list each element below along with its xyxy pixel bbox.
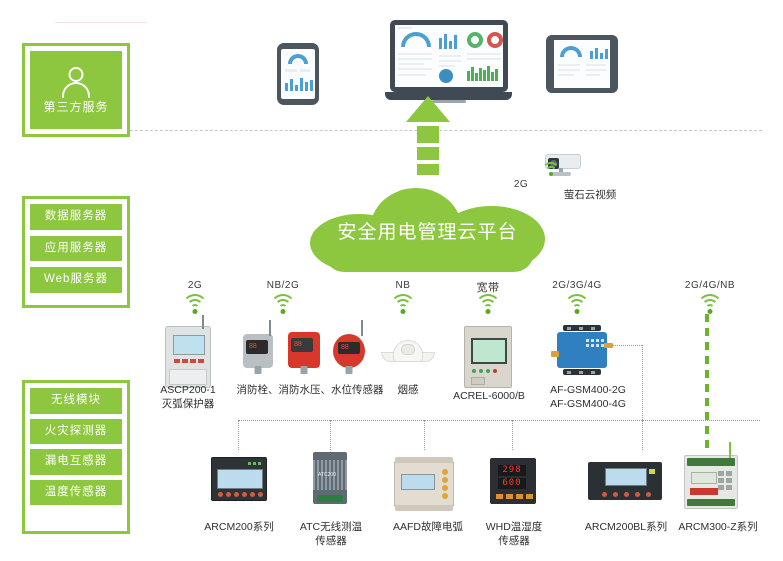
laptop-screen xyxy=(395,25,503,87)
caption-hydrant-group: 消防栓、消防水压、水位传感器 xyxy=(232,383,388,397)
wireless-link-arcm300 xyxy=(705,314,709,454)
device-water-level-sensor: 88 xyxy=(333,334,365,368)
net-label-2: NB/2G xyxy=(258,280,308,291)
caption-atc200: ATC无线测温 传感器 xyxy=(288,520,374,548)
person-icon xyxy=(59,67,93,97)
fieldbus-drop-2 xyxy=(330,420,331,450)
net-label-3: NB xyxy=(383,280,423,291)
tier-divider-dashed xyxy=(40,130,762,131)
whd-display-line2: 600 xyxy=(498,478,526,489)
server-item-web: Web服务器 xyxy=(30,267,122,293)
net-label-6: 2G/4G/NB xyxy=(675,280,745,291)
caption-af-gsm400: AF-GSM400-2G AF-GSM400-4G xyxy=(540,383,636,411)
device-acrel-6000b xyxy=(464,326,512,388)
fieldbus-drop-5 xyxy=(642,420,643,450)
device-whd: 298 600 xyxy=(490,458,536,504)
caption-aafd: AAFD故障电弧 xyxy=(382,520,474,534)
camera-wifi-icon xyxy=(542,162,560,176)
device-arcm200bl xyxy=(588,462,662,500)
server-item-data: 数据服务器 xyxy=(30,204,122,230)
client-tablet xyxy=(546,35,618,93)
sensor-item-fire-detector: 火灾探测器 xyxy=(30,419,122,445)
top-divider xyxy=(55,22,147,23)
wifi-icon-4 xyxy=(475,294,501,314)
phone-screen xyxy=(281,49,315,99)
caption-ascp200: ASCP200-1 灭弧保护器 xyxy=(147,383,229,411)
panel-sensors: 无线模块 火灾探测器 漏电互感器 温度传感器 xyxy=(22,380,130,534)
sensor-item-temperature-sensor: 温度传感器 xyxy=(30,480,122,506)
caption-acrel-6000b: ACREL-6000/B xyxy=(447,389,531,403)
caption-smoke-detector: 烟感 xyxy=(382,383,434,397)
laptop-lid xyxy=(390,20,508,92)
tablet-screen xyxy=(554,40,610,88)
caption-whd: WHD温湿度 传感器 xyxy=(469,520,559,548)
gateway-drop-line xyxy=(642,345,643,420)
panel-servers: 数据服务器 应用服务器 Web服务器 xyxy=(22,196,130,308)
wifi-icon-1 xyxy=(182,294,208,314)
server-item-app: 应用服务器 xyxy=(30,236,122,262)
fieldbus-drop-4 xyxy=(512,420,513,450)
fieldbus-line xyxy=(238,420,760,421)
caption-arcm300z: ARCM300-Z系列 xyxy=(668,520,768,534)
upload-arrow-icon xyxy=(406,96,450,188)
third-party-service-chip: 第三方服务 xyxy=(30,51,122,129)
gateway-lead-line xyxy=(612,345,642,346)
device-arcm200 xyxy=(211,457,267,501)
third-party-service-label: 第三方服务 xyxy=(43,101,108,113)
wifi-icon-6 xyxy=(697,294,723,314)
cloud-platform: 安全用电管理云平台 xyxy=(310,188,545,272)
fieldbus-drop-1 xyxy=(238,420,239,450)
sensor-item-wireless-module: 无线模块 xyxy=(30,388,122,414)
net-label-5: 2G/3G/4G xyxy=(542,280,612,291)
device-atc200: ATC200 xyxy=(313,452,347,504)
whd-display-line1: 298 xyxy=(498,465,526,476)
device-hydrant-sensor: 88 xyxy=(243,334,273,368)
device-arcm300z xyxy=(684,455,738,509)
device-smoke-detector xyxy=(381,338,435,368)
fieldbus-drop-3 xyxy=(424,420,425,450)
wifi-icon-2 xyxy=(270,294,296,314)
caption-arcm200bl: ARCM200BL系列 xyxy=(578,520,674,534)
cloud-platform-label: 安全用电管理云平台 xyxy=(310,188,545,272)
panel-third-party-service: 第三方服务 xyxy=(22,43,130,137)
atc-model-label: ATC200 xyxy=(318,472,336,478)
wifi-icon-5 xyxy=(564,294,590,314)
net-label-1: 2G xyxy=(175,280,215,291)
caption-arcm200: ARCM200系列 xyxy=(193,520,285,534)
device-ascp200 xyxy=(165,326,211,388)
device-af-gsm400 xyxy=(551,325,613,375)
net-label-4: 宽带 xyxy=(466,279,510,295)
device-aafd xyxy=(394,461,454,507)
device-water-pressure-sensor: 88 xyxy=(288,332,320,368)
client-laptop xyxy=(385,20,512,105)
sensor-item-leakage-transformer: 漏电互感器 xyxy=(30,449,122,475)
client-phone xyxy=(277,43,319,105)
wifi-icon-3 xyxy=(390,294,416,314)
camera-caption: 萤石云视频 xyxy=(548,188,632,202)
